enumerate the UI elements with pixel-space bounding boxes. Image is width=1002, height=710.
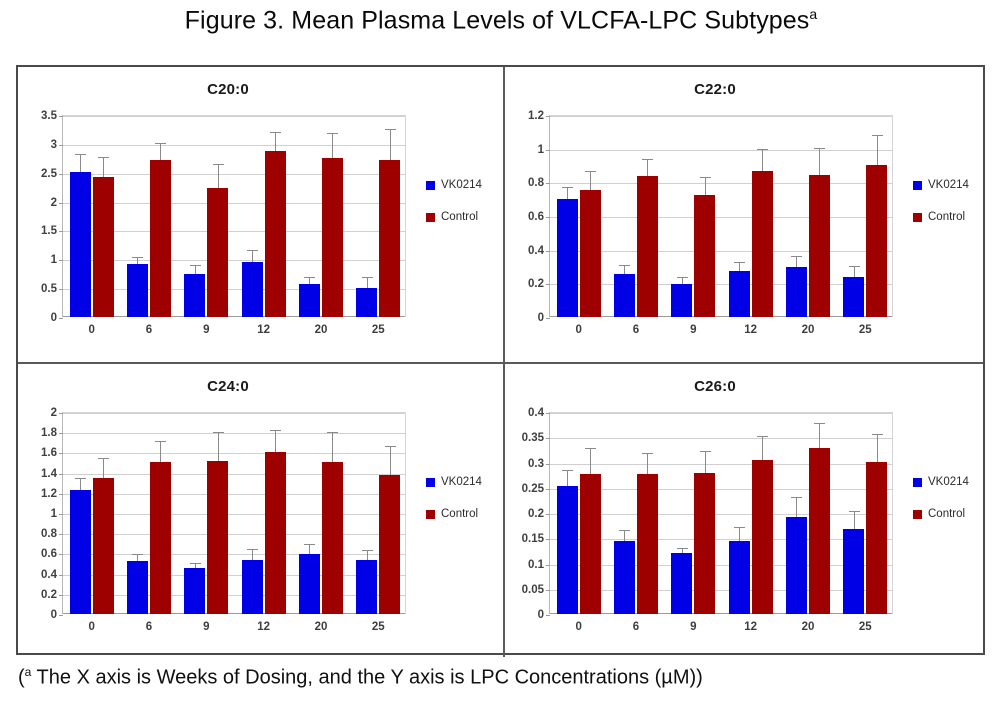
bar-group: 9 bbox=[178, 413, 235, 614]
plot-area-wrapper: 00.20.40.60.811.21.41.61.82069122025 bbox=[62, 412, 406, 614]
bar-group: 20 bbox=[779, 413, 836, 614]
y-axis-tick-label: 2.5 bbox=[17, 168, 57, 180]
error-bar bbox=[160, 144, 161, 160]
error-bar-cap bbox=[213, 164, 224, 165]
error-bar bbox=[103, 158, 104, 177]
bar-vk0214 bbox=[70, 490, 91, 614]
figure-page: Figure 3. Mean Plasma Levels of VLCFA-LP… bbox=[0, 0, 1002, 710]
bar-group: 25 bbox=[837, 413, 894, 614]
chart-panel-c24: C24:000.20.40.60.811.21.41.61.8206912202… bbox=[18, 364, 503, 659]
error-bar-cap bbox=[562, 187, 573, 188]
error-bar bbox=[590, 449, 591, 474]
error-bar bbox=[160, 442, 161, 462]
error-bar bbox=[218, 433, 219, 461]
y-axis-tick-label: 1.2 bbox=[17, 488, 57, 500]
x-axis-tick-label: 0 bbox=[575, 621, 581, 633]
bar-control bbox=[322, 158, 343, 317]
footnote-body: The X axis is Weeks of Dosing, and the Y… bbox=[31, 667, 702, 689]
error-bar-cap bbox=[791, 256, 802, 257]
figure-title-superscript: a bbox=[809, 6, 817, 22]
error-bar-cap bbox=[213, 432, 224, 433]
legend-item-control[interactable]: Control bbox=[913, 211, 969, 223]
error-bar bbox=[275, 133, 276, 150]
x-axis-tick-label: 20 bbox=[315, 621, 328, 633]
bar-control bbox=[150, 160, 171, 317]
bar-group: 0 bbox=[550, 413, 607, 614]
y-axis-tick-label: 0 bbox=[17, 312, 57, 324]
y-axis-tick-label: 0 bbox=[504, 609, 544, 621]
legend-swatch-icon bbox=[426, 181, 435, 190]
y-axis-tick-label: 0 bbox=[17, 609, 57, 621]
plot-area-wrapper: 00.511.522.533.5069122025 bbox=[62, 115, 406, 317]
error-bar bbox=[195, 564, 196, 569]
bar-control bbox=[93, 177, 114, 317]
bar-group: 0 bbox=[63, 116, 120, 317]
y-axis-tick-label: 0.8 bbox=[17, 528, 57, 540]
x-axis-tick-label: 12 bbox=[744, 324, 757, 336]
x-axis-tick-label: 9 bbox=[690, 324, 696, 336]
bar-vk0214 bbox=[729, 271, 750, 317]
bar-group: 6 bbox=[120, 116, 177, 317]
legend-label: Control bbox=[441, 508, 478, 520]
error-bar bbox=[682, 278, 683, 284]
bar-vk0214 bbox=[127, 264, 148, 317]
bar-group: 6 bbox=[120, 413, 177, 614]
chart-title: C20:0 bbox=[18, 81, 438, 98]
x-axis-tick-label: 0 bbox=[575, 324, 581, 336]
error-bar-cap bbox=[642, 159, 653, 160]
error-bar bbox=[390, 130, 391, 160]
x-axis-tick-label: 20 bbox=[802, 621, 815, 633]
bar-control bbox=[207, 188, 228, 317]
bar-vk0214 bbox=[356, 560, 377, 614]
legend-swatch-icon bbox=[913, 213, 922, 222]
error-bar bbox=[796, 498, 797, 517]
legend-swatch-icon bbox=[913, 478, 922, 487]
error-bar-cap bbox=[814, 148, 825, 149]
error-bar bbox=[819, 149, 820, 175]
bar-control bbox=[379, 475, 400, 614]
y-axis-tick-mark bbox=[59, 318, 63, 319]
error-bar bbox=[739, 263, 740, 271]
error-bar-cap bbox=[791, 497, 802, 498]
y-axis-tick-label: 3.5 bbox=[17, 110, 57, 122]
chart-title: C26:0 bbox=[505, 378, 925, 395]
chart-legend: VK0214Control bbox=[913, 179, 969, 243]
bar-control bbox=[150, 462, 171, 615]
error-bar-cap bbox=[304, 544, 315, 545]
figure-footnote: (a The X axis is Weeks of Dosing, and th… bbox=[18, 665, 703, 690]
x-axis-tick-label: 25 bbox=[859, 324, 872, 336]
bar-control bbox=[580, 190, 601, 317]
x-axis-tick-label: 6 bbox=[146, 324, 152, 336]
y-axis-tick-label: 1.2 bbox=[504, 110, 544, 122]
chart-panel-c22: C22:000.20.40.60.811.2069122025VK0214Con… bbox=[505, 67, 990, 362]
y-axis-tick-label: 2 bbox=[17, 197, 57, 209]
error-bar-cap bbox=[757, 436, 768, 437]
bar-control bbox=[694, 195, 715, 317]
bar-control bbox=[637, 474, 658, 614]
error-bar-cap bbox=[385, 129, 396, 130]
y-axis-tick-label: 0.15 bbox=[504, 533, 544, 545]
bar-group: 25 bbox=[350, 116, 407, 317]
error-bar-cap bbox=[155, 441, 166, 442]
error-bar-cap bbox=[75, 154, 86, 155]
bar-vk0214 bbox=[729, 541, 750, 614]
y-axis-tick-label: 3 bbox=[17, 139, 57, 151]
error-bar bbox=[762, 437, 763, 460]
error-bar bbox=[590, 172, 591, 191]
plot-area: 00.050.10.150.20.250.30.350.4069122025 bbox=[549, 412, 893, 614]
chart-legend: VK0214Control bbox=[913, 476, 969, 540]
error-bar-cap bbox=[190, 265, 201, 266]
error-bar-cap bbox=[849, 511, 860, 512]
bar-vk0214 bbox=[786, 517, 807, 614]
x-axis-tick-label: 20 bbox=[802, 324, 815, 336]
error-bar bbox=[705, 178, 706, 194]
y-axis-tick-label: 0.2 bbox=[504, 508, 544, 520]
error-bar bbox=[332, 433, 333, 462]
bar-vk0214 bbox=[184, 274, 205, 317]
legend-label: VK0214 bbox=[441, 476, 482, 488]
error-bar bbox=[682, 549, 683, 554]
plot-area: 00.20.40.60.811.2069122025 bbox=[549, 115, 893, 317]
error-bar bbox=[252, 251, 253, 263]
legend-item-vk0214[interactable]: VK0214 bbox=[426, 476, 482, 488]
x-axis-tick-label: 6 bbox=[633, 324, 639, 336]
bar-control bbox=[866, 462, 887, 615]
figure-title-text: Figure 3. Mean Plasma Levels of VLCFA-LP… bbox=[185, 6, 810, 34]
legend-label: VK0214 bbox=[441, 179, 482, 191]
plot-area: 00.511.522.533.5069122025 bbox=[62, 115, 406, 317]
bar-control bbox=[580, 474, 601, 614]
bar-vk0214 bbox=[843, 529, 864, 614]
bar-control bbox=[93, 478, 114, 614]
error-bar-cap bbox=[98, 458, 109, 459]
error-bar bbox=[137, 258, 138, 264]
legend-item-control[interactable]: Control bbox=[426, 508, 482, 520]
x-axis-tick-label: 9 bbox=[203, 324, 209, 336]
bar-group: 9 bbox=[665, 413, 722, 614]
error-bar bbox=[137, 555, 138, 561]
plot-area-wrapper: 00.20.40.60.811.2069122025 bbox=[549, 115, 893, 317]
y-axis-tick-label: 0.5 bbox=[17, 283, 57, 295]
error-bar-cap bbox=[700, 177, 711, 178]
bar-group: 6 bbox=[607, 413, 664, 614]
error-bar bbox=[819, 424, 820, 448]
x-axis-tick-label: 12 bbox=[744, 621, 757, 633]
error-bar-cap bbox=[585, 448, 596, 449]
error-bar-cap bbox=[734, 262, 745, 263]
error-bar-cap bbox=[132, 554, 143, 555]
footnote-prefix: ( bbox=[18, 667, 25, 689]
error-bar-cap bbox=[385, 446, 396, 447]
bar-group: 12 bbox=[235, 413, 292, 614]
error-bar-cap bbox=[362, 550, 373, 551]
y-axis-tick-mark bbox=[546, 615, 550, 616]
error-bar bbox=[854, 267, 855, 277]
legend-item-control[interactable]: Control bbox=[426, 211, 482, 223]
y-axis-tick-label: 1 bbox=[17, 508, 57, 520]
y-axis-tick-label: 2 bbox=[17, 407, 57, 419]
x-axis-tick-label: 25 bbox=[372, 621, 385, 633]
x-axis-tick-label: 25 bbox=[859, 621, 872, 633]
error-bar bbox=[390, 447, 391, 474]
error-bar bbox=[796, 257, 797, 268]
bar-vk0214 bbox=[671, 284, 692, 317]
error-bar-cap bbox=[677, 548, 688, 549]
x-axis-tick-label: 25 bbox=[372, 324, 385, 336]
error-bar-cap bbox=[98, 157, 109, 158]
bar-control bbox=[694, 473, 715, 614]
error-bar bbox=[647, 454, 648, 474]
bar-control bbox=[752, 171, 773, 317]
bar-group: 20 bbox=[779, 116, 836, 317]
y-axis-tick-label: 0.6 bbox=[17, 548, 57, 560]
bar-control bbox=[265, 452, 286, 614]
x-axis-tick-label: 6 bbox=[146, 621, 152, 633]
legend-label: Control bbox=[441, 211, 478, 223]
y-axis-tick-label: 1 bbox=[17, 254, 57, 266]
bar-vk0214 bbox=[843, 277, 864, 317]
chart-title: C22:0 bbox=[505, 81, 925, 98]
error-bar bbox=[332, 134, 333, 158]
legend-swatch-icon bbox=[426, 510, 435, 519]
chart-title: C24:0 bbox=[18, 378, 438, 395]
legend-item-control[interactable]: Control bbox=[913, 508, 969, 520]
x-axis-tick-label: 12 bbox=[257, 621, 270, 633]
error-bar-cap bbox=[757, 149, 768, 150]
y-axis-tick-label: 0.4 bbox=[504, 245, 544, 257]
error-bar-cap bbox=[247, 549, 258, 550]
legend-swatch-icon bbox=[913, 181, 922, 190]
error-bar bbox=[309, 545, 310, 554]
bar-group: 12 bbox=[722, 116, 779, 317]
bar-vk0214 bbox=[557, 199, 578, 317]
y-axis-tick-label: 0.6 bbox=[504, 211, 544, 223]
error-bar-cap bbox=[270, 132, 281, 133]
error-bar bbox=[218, 165, 219, 188]
legend-swatch-icon bbox=[913, 510, 922, 519]
x-axis-tick-label: 9 bbox=[690, 621, 696, 633]
y-axis-tick-label: 1 bbox=[504, 144, 544, 156]
bar-vk0214 bbox=[184, 568, 205, 614]
bar-control bbox=[207, 461, 228, 614]
y-axis-tick-label: 1.8 bbox=[17, 427, 57, 439]
bar-vk0214 bbox=[70, 172, 91, 317]
error-bar-cap bbox=[327, 133, 338, 134]
legend-item-vk0214[interactable]: VK0214 bbox=[913, 476, 969, 488]
error-bar bbox=[367, 278, 368, 288]
bar-group: 6 bbox=[607, 116, 664, 317]
bar-control bbox=[752, 460, 773, 614]
bar-vk0214 bbox=[614, 541, 635, 614]
y-axis-tick-label: 0.25 bbox=[504, 483, 544, 495]
bar-vk0214 bbox=[557, 486, 578, 614]
bar-vk0214 bbox=[299, 554, 320, 614]
error-bar bbox=[367, 551, 368, 561]
error-bar-cap bbox=[155, 143, 166, 144]
bar-control bbox=[322, 462, 343, 614]
chart-legend: VK0214Control bbox=[426, 179, 482, 243]
y-axis-tick-label: 0.05 bbox=[504, 584, 544, 596]
chart-panel-c20: C20:000.511.522.533.5069122025VK0214Cont… bbox=[18, 67, 503, 362]
y-axis-tick-label: 1.6 bbox=[17, 447, 57, 459]
error-bar-cap bbox=[814, 423, 825, 424]
y-axis-tick-label: 0.1 bbox=[504, 559, 544, 571]
error-bar-cap bbox=[247, 250, 258, 251]
bar-group: 9 bbox=[178, 116, 235, 317]
y-axis-tick-label: 0 bbox=[504, 312, 544, 324]
error-bar bbox=[567, 471, 568, 486]
bar-vk0214 bbox=[356, 288, 377, 317]
bar-group: 12 bbox=[722, 413, 779, 614]
legend-label: Control bbox=[928, 211, 965, 223]
error-bar-cap bbox=[849, 266, 860, 267]
error-bar-cap bbox=[677, 277, 688, 278]
bar-group: 25 bbox=[350, 413, 407, 614]
legend-item-vk0214[interactable]: VK0214 bbox=[913, 179, 969, 191]
legend-item-vk0214[interactable]: VK0214 bbox=[426, 179, 482, 191]
bar-group: 20 bbox=[292, 413, 349, 614]
bar-group: 25 bbox=[837, 116, 894, 317]
bar-group: 0 bbox=[550, 116, 607, 317]
bar-vk0214 bbox=[299, 284, 320, 317]
plot-area: 00.20.40.60.811.21.41.61.82069122025 bbox=[62, 412, 406, 614]
bar-control bbox=[809, 175, 830, 317]
error-bar bbox=[624, 266, 625, 274]
y-axis-tick-label: 1.5 bbox=[17, 225, 57, 237]
error-bar bbox=[647, 160, 648, 175]
error-bar bbox=[705, 452, 706, 472]
legend-swatch-icon bbox=[426, 213, 435, 222]
error-bar-cap bbox=[619, 265, 630, 266]
error-bar-cap bbox=[190, 563, 201, 564]
error-bar bbox=[624, 531, 625, 541]
error-bar-cap bbox=[327, 432, 338, 433]
bar-group: 20 bbox=[292, 116, 349, 317]
y-axis-tick-label: 0.2 bbox=[504, 278, 544, 290]
error-bar bbox=[275, 431, 276, 453]
error-bar-cap bbox=[270, 430, 281, 431]
error-bar bbox=[195, 266, 196, 274]
bar-control bbox=[637, 176, 658, 317]
x-axis-tick-label: 0 bbox=[88, 324, 94, 336]
x-axis-tick-label: 0 bbox=[88, 621, 94, 633]
legend-label: VK0214 bbox=[928, 476, 969, 488]
error-bar bbox=[739, 528, 740, 541]
figure-title: Figure 3. Mean Plasma Levels of VLCFA-LP… bbox=[0, 6, 1002, 35]
chart-legend: VK0214Control bbox=[426, 476, 482, 540]
bar-control bbox=[379, 160, 400, 317]
y-axis-tick-label: 1.4 bbox=[17, 468, 57, 480]
error-bar-cap bbox=[642, 453, 653, 454]
chart-panel-c26: C26:000.050.10.150.20.250.30.350.4069122… bbox=[505, 364, 990, 659]
legend-label: Control bbox=[928, 508, 965, 520]
bar-control bbox=[866, 165, 887, 317]
bar-group: 9 bbox=[665, 116, 722, 317]
bar-control bbox=[265, 151, 286, 317]
error-bar-cap bbox=[75, 478, 86, 479]
legend-swatch-icon bbox=[426, 478, 435, 487]
error-bar-cap bbox=[132, 257, 143, 258]
error-bar-cap bbox=[872, 434, 883, 435]
error-bar bbox=[103, 459, 104, 477]
y-axis-tick-label: 0.4 bbox=[504, 407, 544, 419]
error-bar-cap bbox=[700, 451, 711, 452]
error-bar-cap bbox=[872, 135, 883, 136]
bar-vk0214 bbox=[786, 267, 807, 317]
y-axis-tick-label: 0.4 bbox=[17, 569, 57, 581]
error-bar-cap bbox=[734, 527, 745, 528]
error-bar bbox=[80, 155, 81, 172]
error-bar bbox=[877, 136, 878, 165]
bar-vk0214 bbox=[242, 262, 263, 317]
x-axis-tick-label: 20 bbox=[315, 324, 328, 336]
bar-group: 12 bbox=[235, 116, 292, 317]
error-bar-cap bbox=[304, 277, 315, 278]
error-bar bbox=[80, 479, 81, 490]
bar-group: 0 bbox=[63, 413, 120, 614]
charts-frame: C20:000.511.522.533.5069122025VK0214Cont… bbox=[16, 65, 985, 655]
y-axis-tick-label: 0.8 bbox=[504, 177, 544, 189]
error-bar bbox=[567, 188, 568, 199]
error-bar bbox=[854, 512, 855, 530]
bar-control bbox=[809, 448, 830, 614]
y-axis-tick-mark bbox=[546, 318, 550, 319]
y-axis-tick-label: 0.35 bbox=[504, 432, 544, 444]
bar-vk0214 bbox=[614, 274, 635, 317]
y-axis-tick-label: 0.3 bbox=[504, 458, 544, 470]
error-bar-cap bbox=[619, 530, 630, 531]
error-bar bbox=[877, 435, 878, 461]
plot-area-wrapper: 00.050.10.150.20.250.30.350.4069122025 bbox=[549, 412, 893, 614]
x-axis-tick-label: 12 bbox=[257, 324, 270, 336]
bar-vk0214 bbox=[127, 561, 148, 614]
error-bar-cap bbox=[362, 277, 373, 278]
error-bar bbox=[309, 278, 310, 283]
error-bar-cap bbox=[585, 171, 596, 172]
y-axis-tick-mark bbox=[59, 615, 63, 616]
bar-vk0214 bbox=[242, 560, 263, 614]
x-axis-tick-label: 6 bbox=[633, 621, 639, 633]
x-axis-tick-label: 9 bbox=[203, 621, 209, 633]
legend-label: VK0214 bbox=[928, 179, 969, 191]
error-bar bbox=[252, 550, 253, 560]
error-bar bbox=[762, 150, 763, 172]
y-axis-tick-label: 0.2 bbox=[17, 589, 57, 601]
error-bar-cap bbox=[562, 470, 573, 471]
bar-vk0214 bbox=[671, 553, 692, 614]
